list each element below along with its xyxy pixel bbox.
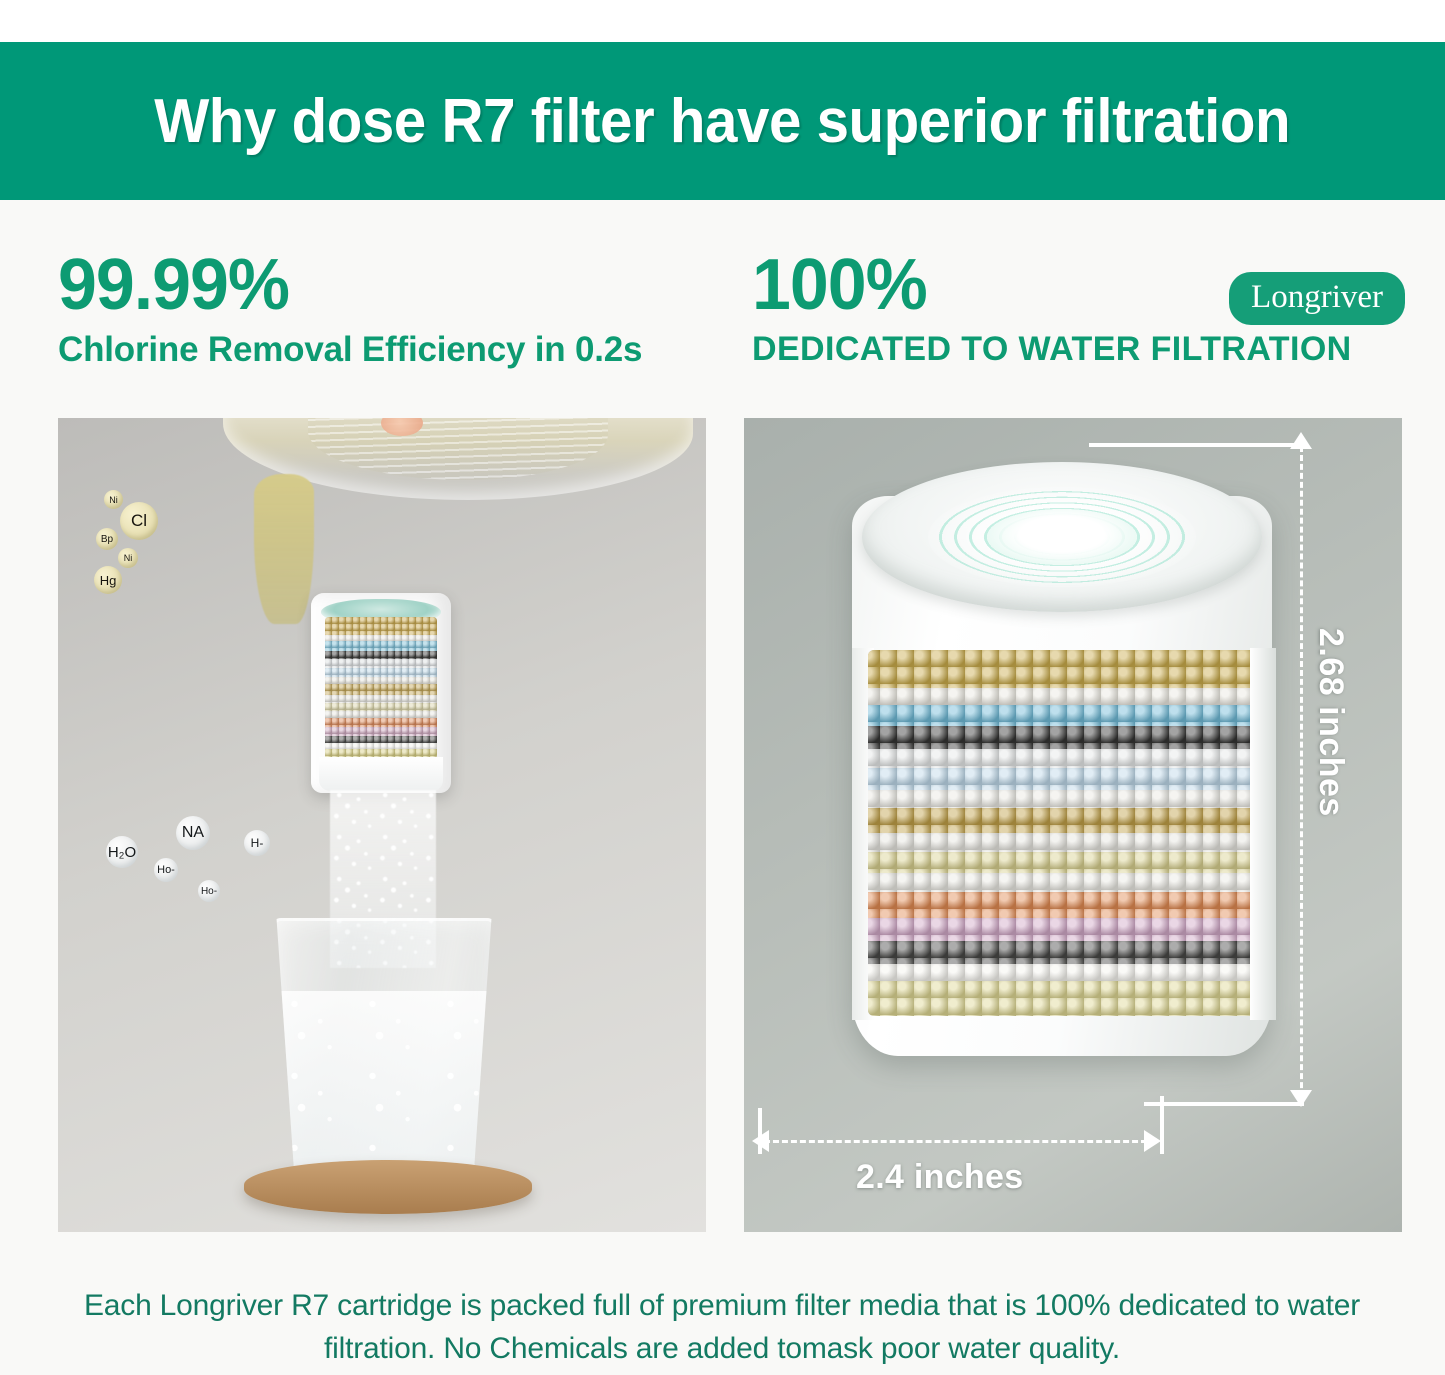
media-layer-pale-yellow-media bbox=[868, 852, 1258, 873]
media-layer-yellow-beads bbox=[868, 981, 1258, 1016]
cartridge-media-window bbox=[325, 617, 437, 759]
media-layer-orange-beads bbox=[325, 718, 437, 727]
media-layer-dark-grey-beads bbox=[868, 941, 1258, 964]
dimension-label-width: 2.4 inches bbox=[856, 1158, 1023, 1197]
vortex-swirl-icon bbox=[928, 487, 1196, 587]
media-layer-white-beads bbox=[325, 695, 437, 703]
bubble-Ni: Ni bbox=[118, 548, 138, 568]
dimension-line-horizontal bbox=[764, 1140, 1156, 1143]
media-layer-white-beads bbox=[868, 873, 1258, 892]
media-layer-carbon-black bbox=[868, 726, 1258, 749]
media-layer-light-blue-beads bbox=[325, 668, 437, 676]
stat-label-dedication: DEDICATED TO WATER FILTRATION bbox=[752, 330, 1402, 369]
media-layer-blue-media bbox=[868, 705, 1258, 726]
media-layer-pink-lavender-media bbox=[868, 918, 1258, 941]
bubble-HO: H₂O bbox=[106, 836, 138, 868]
media-layer-gold-media bbox=[868, 808, 1258, 833]
window-frame-right bbox=[1250, 648, 1276, 1020]
dimension-tick-top bbox=[1089, 443, 1307, 447]
content-sheet: 99.99% Chlorine Removal Efficiency in 0.… bbox=[0, 200, 1445, 1375]
stats-row: 99.99% Chlorine Removal Efficiency in 0.… bbox=[0, 250, 1445, 400]
cartridge-base bbox=[319, 757, 443, 791]
stat-label-chlorine: Chlorine Removal Efficiency in 0.2s bbox=[58, 330, 708, 370]
photo-chlorine-removal: NiClBpNiHg NAH₂OH-Ho-Ho- bbox=[58, 418, 706, 1232]
media-layer-gold-media bbox=[325, 617, 437, 635]
media-layer-white-beads bbox=[868, 790, 1258, 808]
dimension-tick-bottom bbox=[1144, 1102, 1304, 1106]
media-cutaway-window bbox=[868, 650, 1258, 1016]
drinking-glass bbox=[272, 918, 496, 1176]
media-layer-white-beads bbox=[868, 688, 1258, 705]
media-layer-white-beads bbox=[325, 711, 437, 718]
stat-block-chlorine: 99.99% Chlorine Removal Efficiency in 0.… bbox=[58, 250, 708, 370]
bubble-H: H- bbox=[244, 830, 270, 856]
media-layer-orange-beads bbox=[868, 892, 1258, 917]
bubble-Ho: Ho- bbox=[198, 880, 220, 902]
bubble-Hg: Hg bbox=[94, 566, 122, 594]
dimension-line-vertical bbox=[1300, 446, 1303, 1106]
dimension-arrow-right-icon bbox=[1144, 1130, 1161, 1152]
page-title: Why dose R7 filter have superior filtrat… bbox=[155, 86, 1291, 157]
bubble-Cl: Cl bbox=[120, 502, 158, 540]
bubble-Ni: Ni bbox=[104, 490, 123, 509]
bubble-Ho: Ho- bbox=[154, 858, 178, 882]
photo-cartridge-cutaway: 2.68 inches 2.4 inches bbox=[744, 418, 1402, 1232]
contaminated-water-stream bbox=[254, 474, 314, 624]
stat-value-chlorine: 99.99% bbox=[58, 250, 689, 321]
media-layer-carbon-black bbox=[325, 651, 437, 659]
wooden-coaster bbox=[244, 1160, 532, 1214]
media-layer-white-beads bbox=[325, 659, 437, 668]
filtered-water bbox=[275, 991, 493, 1173]
header-band: Why dose R7 filter have superior filtrat… bbox=[0, 42, 1445, 200]
media-layer-blue-beads bbox=[325, 641, 437, 650]
media-layer-white-beads bbox=[868, 749, 1258, 768]
media-layer-white-beads bbox=[325, 677, 437, 684]
filter-cartridge-small bbox=[311, 593, 451, 793]
media-layer-pale-yellow bbox=[325, 703, 437, 710]
media-layer-gold-media bbox=[325, 684, 437, 695]
cartridge-lid bbox=[862, 462, 1262, 612]
media-layer-light-blue-media bbox=[868, 768, 1258, 789]
dimension-label-height: 2.68 inches bbox=[1311, 628, 1350, 817]
media-layer-white-beads bbox=[868, 833, 1258, 852]
bubble-Bp: Bp bbox=[96, 528, 118, 550]
media-layer-white-foam bbox=[868, 964, 1258, 981]
media-layer-gold-shavings bbox=[868, 650, 1258, 688]
footer-caption: Each Longriver R7 cartridge is packed fu… bbox=[72, 1285, 1372, 1370]
media-layer-dark-grey-beads bbox=[325, 736, 437, 743]
brand-badge: Longriver bbox=[1229, 272, 1405, 325]
bubble-NA: NA bbox=[176, 816, 210, 850]
media-layer-pink-beads bbox=[325, 727, 437, 735]
